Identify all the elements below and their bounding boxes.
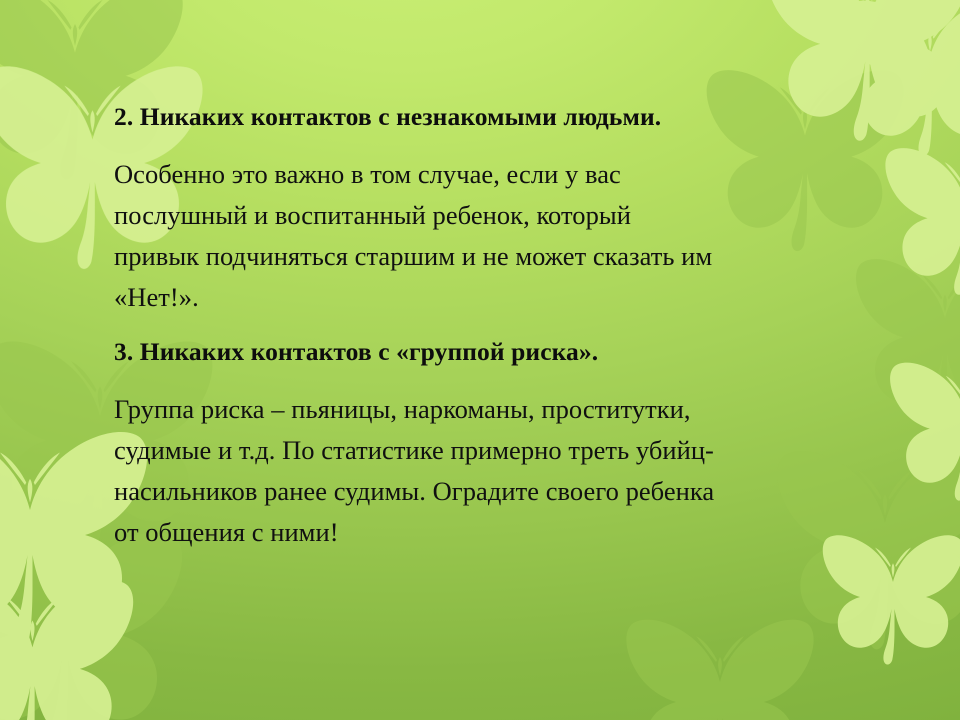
text-line: «Нет!».	[114, 277, 854, 318]
text-line: привык подчиняться старшим и не может ск…	[114, 236, 854, 277]
butterfly-icon	[626, 620, 813, 720]
slide-text-content: 2. Никаких контактов с незнакомыми людьм…	[114, 104, 854, 553]
paragraph-point-3: Группа риска – пьяницы, наркоманы, прост…	[114, 389, 854, 553]
butterfly-icon	[890, 363, 960, 501]
text-line: судимые и т.д. По статистике примерно тр…	[114, 430, 854, 471]
presentation-slide: 2. Никаких контактов с незнакомыми людьм…	[0, 0, 960, 720]
butterfly-icon	[823, 535, 960, 664]
heading-point-2: 2. Никаких контактов с незнакомыми людьм…	[114, 104, 854, 130]
butterfly-icon	[846, 1, 960, 156]
spacer	[114, 318, 854, 339]
paragraph-point-2: Особенно это важно в том случае, если у …	[114, 154, 854, 318]
text-line: послушный и воспитанный ребенок, который	[114, 195, 854, 236]
butterfly-icon	[856, 259, 960, 423]
spacer	[114, 364, 854, 389]
text-line: от общения с ними!	[114, 512, 854, 553]
text-line: насильников ранее судимы. Оградите своег…	[114, 471, 854, 512]
butterfly-icon	[885, 148, 960, 295]
text-line: Особенно это важно в том случае, если у …	[114, 154, 854, 195]
butterfly-icon	[0, 580, 133, 720]
spacer	[114, 130, 854, 154]
heading-point-3: 3. Никаких контактов с «группой риска».	[114, 339, 854, 365]
text-line: Группа риска – пьяницы, наркоманы, прост…	[114, 389, 854, 430]
butterfly-icon	[0, 532, 182, 720]
